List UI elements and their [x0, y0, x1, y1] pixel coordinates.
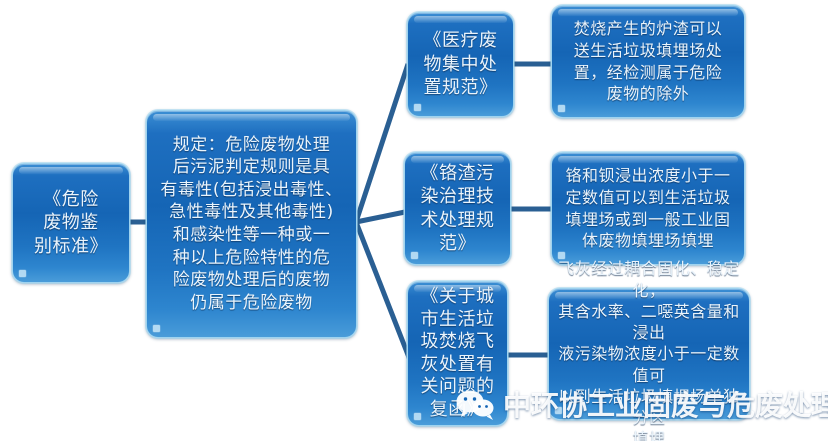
node-branch2-title[interactable]: 《铬渣污 染治理技 术处理规 范》	[404, 152, 511, 265]
node-branch2-body-label: 铬和钡浸出浓度小于一 定数值可以到生活垃圾 填埋场或到一般工业固 体废物填埋场填…	[560, 165, 735, 252]
node-branch3-title-label: 《关于城 市生活垃 圾焚烧飞 灰处置有 关问题的 复函》	[416, 286, 500, 421]
node-branch3-body[interactable]: 飞灰经过耦合固化、稳定化， 其含水率、二噁英含量和浸出 液污染物浓度小于一定数值…	[548, 288, 750, 420]
node-branch1-title[interactable]: 《医疗废 物集中处 置规范》	[407, 12, 514, 117]
node-branch1-body-label: 焚烧产生的炉渣可以 送生活垃圾填埋场处 置，经检测属于危险 废物的除外	[569, 18, 728, 105]
connector-center-to-branch3	[356, 222, 410, 360]
node-branch2-body[interactable]: 铬和钡浸出浓度小于一 定数值可以到生活垃圾 填埋场或到一般工业固 体废物填埋场填…	[551, 152, 745, 265]
node-root-label: 《危险 废物鉴 别标准》	[29, 188, 113, 258]
diagram-canvas: 《危险 废物鉴 别标准》 规定：危险废物处理 后污泥判定规则是具 有毒性(包括浸…	[0, 0, 828, 441]
node-branch1-title-label: 《医疗废 物集中处 置规范》	[419, 29, 503, 99]
node-branch3-title[interactable]: 《关于城 市生活垃 圾焚烧飞 灰处置有 关问题的 复函》	[407, 281, 508, 426]
node-branch3-body-label: 飞灰经过耦合固化、稳定化， 其含水率、二噁英含量和浸出 液污染物浓度小于一定数值…	[549, 258, 749, 441]
connector-center-to-branch2	[356, 212, 405, 222]
node-root-standard[interactable]: 《危险 废物鉴 别标准》	[12, 163, 130, 283]
node-center-label: 规定：危险废物处理 后污泥判定规则是具 有毒性(包括浸出毒性、 急性毒性及其他毒…	[155, 134, 347, 315]
connector-center-to-branch1	[356, 64, 408, 222]
node-branch1-body[interactable]: 焚烧产生的炉渣可以 送生活垃圾填埋场处 置，经检测属于危险 废物的除外	[551, 5, 745, 118]
node-center-provision[interactable]: 规定：危险废物处理 后污泥判定规则是具 有毒性(包括浸出毒性、 急性毒性及其他毒…	[146, 110, 357, 338]
node-branch2-title-label: 《铬渣污 染治理技 术处理规 范》	[416, 162, 500, 256]
